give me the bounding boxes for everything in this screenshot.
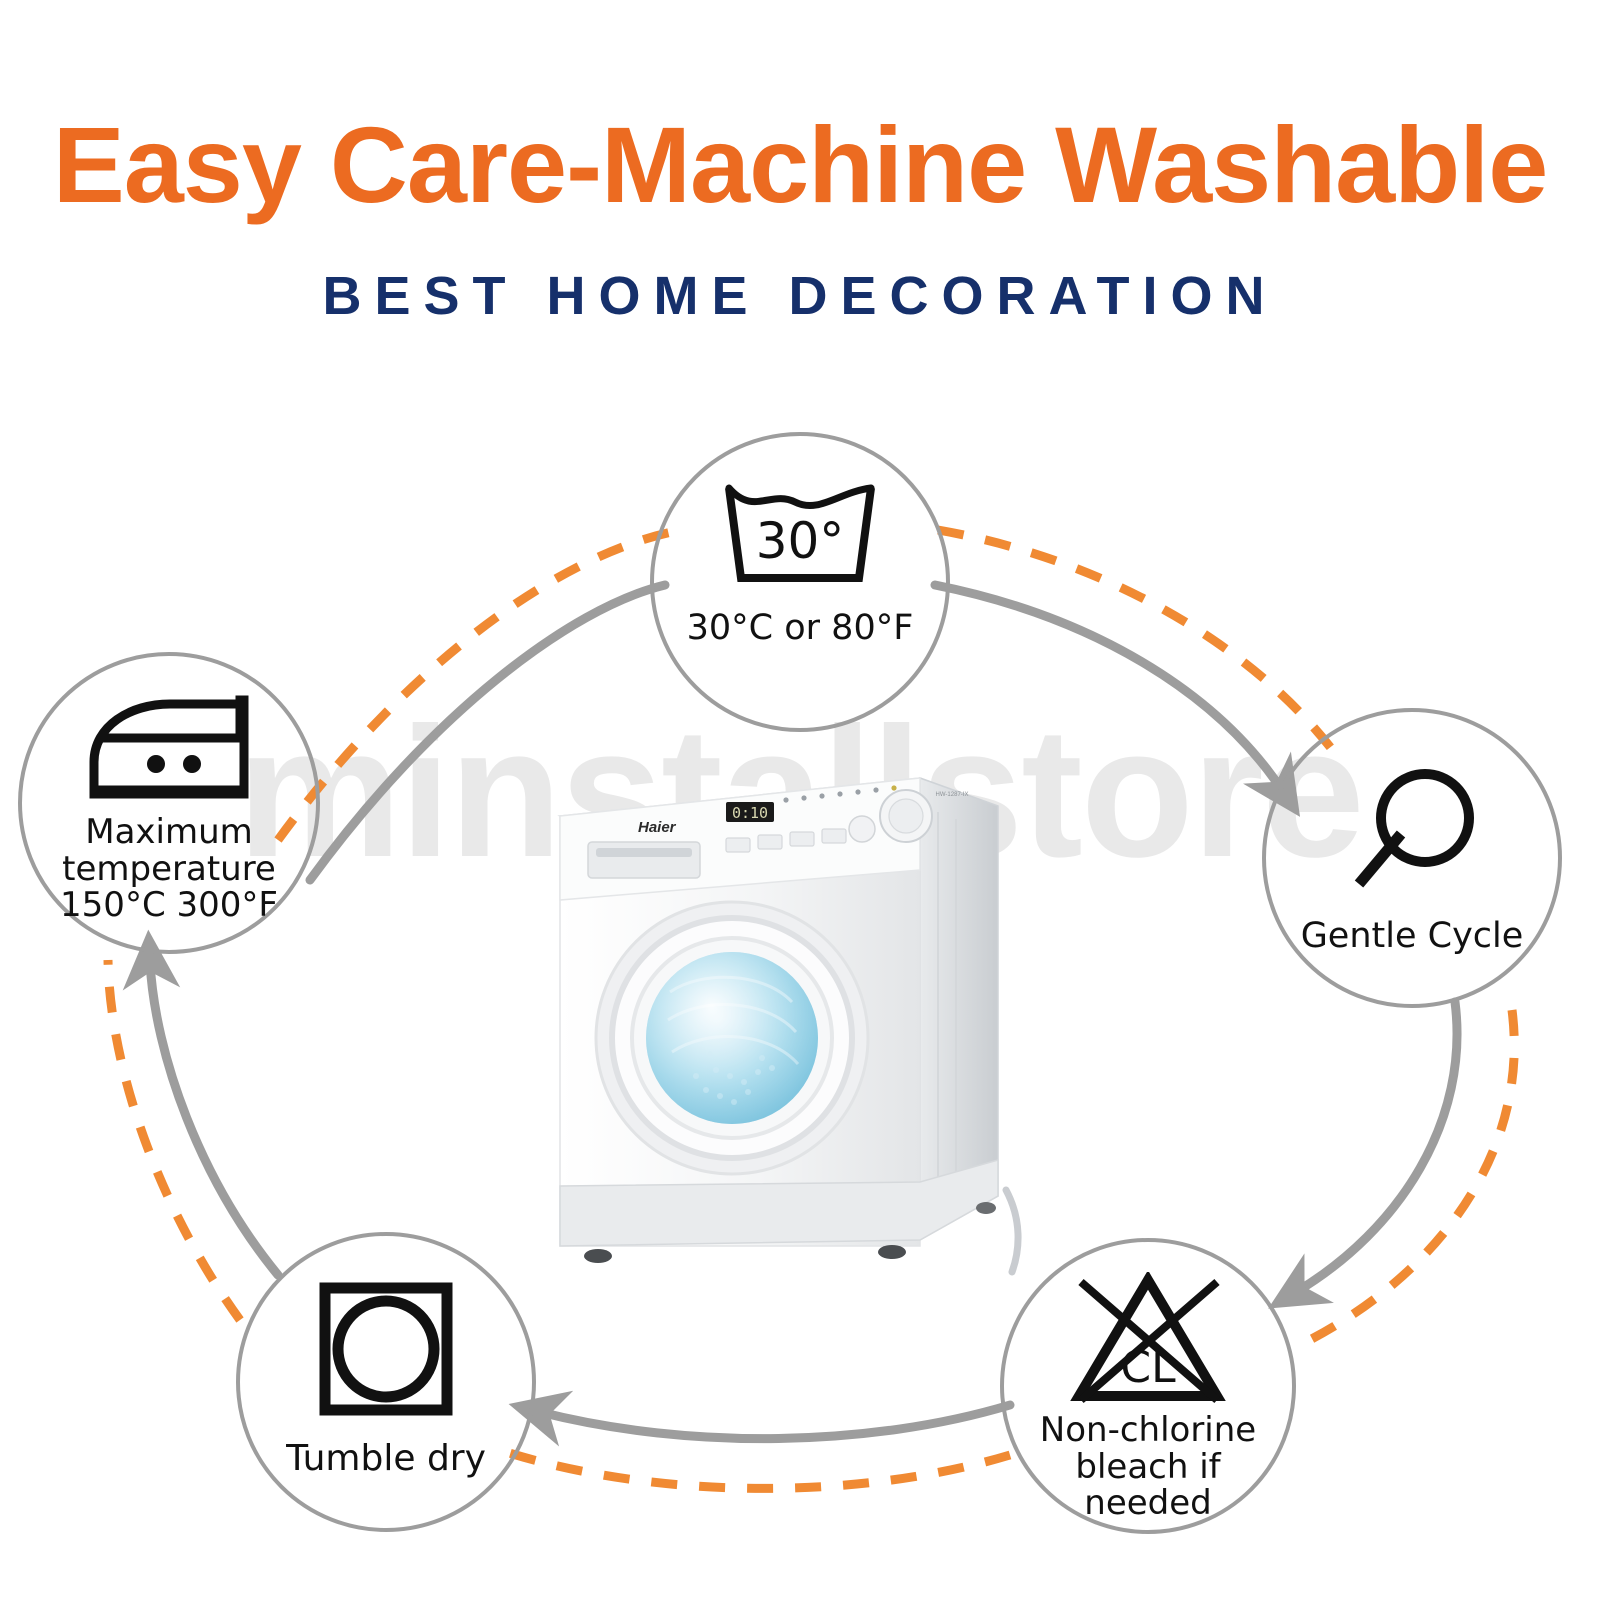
badge-iron-label: Maximum temperature 150°C 300°F [60,814,278,924]
wash-tub-temperature: 30° [756,512,845,570]
badge-bleach-label: Non-chlorine bleach if needed [1040,1412,1256,1522]
bleach-cl-text: CL [1120,1342,1176,1393]
dash-gentle-to-bleach [1300,1010,1514,1345]
dash-bleach-to-tumble [506,1452,1010,1488]
display-value: 0:10 [732,804,768,822]
badge-non-chlorine-bleach[interactable]: CL Non-chlorine bleach if needed [1000,1238,1296,1534]
iron-two-dots-icon [74,692,264,808]
svg-text:HW-1287-IX: HW-1287-IX [936,792,969,798]
infographic-canvas: Easy Care-Machine Washable BEST HOME DEC… [0,0,1600,1600]
badge-tumble-dry[interactable]: Tumble dry [236,1232,536,1532]
badge-tumble-label: Tumble dry [286,1440,486,1479]
arc-tumble-to-iron [150,962,278,1275]
badge-gentle-label: Gentle Cycle [1301,918,1524,956]
badge-wash-label: 30°C or 80°F [687,610,914,648]
dash-tumble-to-iron [108,960,240,1320]
tumble-dry-icon [317,1280,455,1418]
badge-gentle-cycle[interactable]: Gentle Cycle [1262,708,1562,1008]
badge-wash-temperature[interactable]: 30° 30°C or 80°F [650,432,950,732]
washing-machine-image: Haier 0:10 HW-1287-IX [520,720,1040,1320]
brand-label: Haier [638,819,677,836]
arc-bleach-to-tumble [540,1405,1010,1439]
non-chlorine-bleach-icon: CL [1067,1272,1229,1408]
wash-tub-icon: 30° [715,478,885,596]
badge-iron-temperature[interactable]: Maximum temperature 150°C 300°F [18,652,320,954]
gentle-cycle-icon [1337,762,1487,902]
